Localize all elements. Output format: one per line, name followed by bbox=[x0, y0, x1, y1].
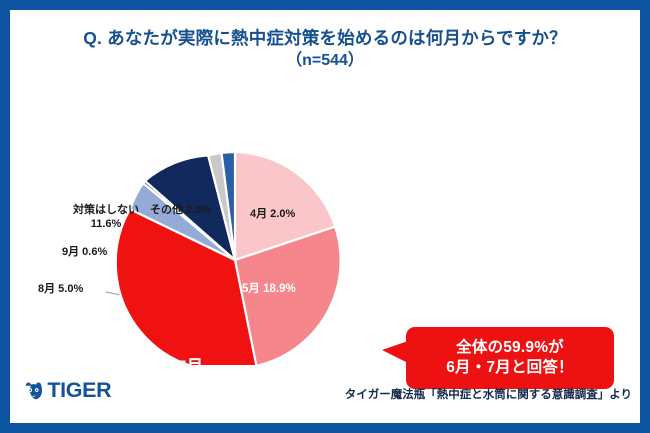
callout-line-1: 全体の59.9%が bbox=[456, 338, 564, 358]
callout-tail-icon bbox=[382, 341, 408, 363]
title-question: Q. あなたが実際に熱中症対策を始めるのは何月からですか？ bbox=[10, 28, 640, 50]
pie-label-sep: 9月 0.6% bbox=[62, 245, 107, 259]
pie-label-none-name: 対策はしない bbox=[58, 203, 154, 217]
slide-canvas: Q. あなたが実際に熱中症対策を始めるのは何月からですか？ （n=544） bbox=[10, 10, 640, 423]
pie-label-none: 対策はしない 11.6% bbox=[58, 203, 154, 232]
pie-label-aug: 8月 5.0% bbox=[38, 282, 83, 296]
pie-label-other: その他 2.0% bbox=[150, 203, 211, 217]
pie-label-may: 5月 18.9% bbox=[242, 282, 296, 296]
source-note: タイガー魔法瓶「熱中症と水筒に関する意識調査」より bbox=[345, 386, 632, 402]
footer: TIGER タイガー魔法瓶「熱中症と水筒に関する意識調査」より bbox=[10, 379, 640, 413]
title-sample-size: （n=544） bbox=[10, 50, 640, 72]
pie-label-jul-name: 7月 bbox=[150, 357, 230, 378]
callout-line-2: 6月・7月と回答！ bbox=[446, 358, 574, 378]
logo-wordmark: TIGER bbox=[47, 379, 111, 403]
slide-frame: Q. あなたが実際に熱中症対策を始めるのは何月からですか？ （n=544） bbox=[0, 0, 650, 433]
pie-label-none-value: 11.6% bbox=[58, 217, 154, 231]
page-title: Q. あなたが実際に熱中症対策を始めるのは何月からですか？ （n=544） bbox=[10, 28, 640, 71]
pie-label-jun-name: 6月 bbox=[258, 350, 338, 371]
pie-slices bbox=[116, 152, 341, 365]
pie-label-apr: 4月 2.0% bbox=[250, 207, 295, 221]
tiger-head-icon bbox=[22, 380, 45, 403]
pie-chart: 対策はしない 11.6% その他 2.0% 4月 2.0% 9月 0.6% 8月… bbox=[10, 95, 640, 365]
tiger-logo: TIGER bbox=[22, 379, 111, 403]
